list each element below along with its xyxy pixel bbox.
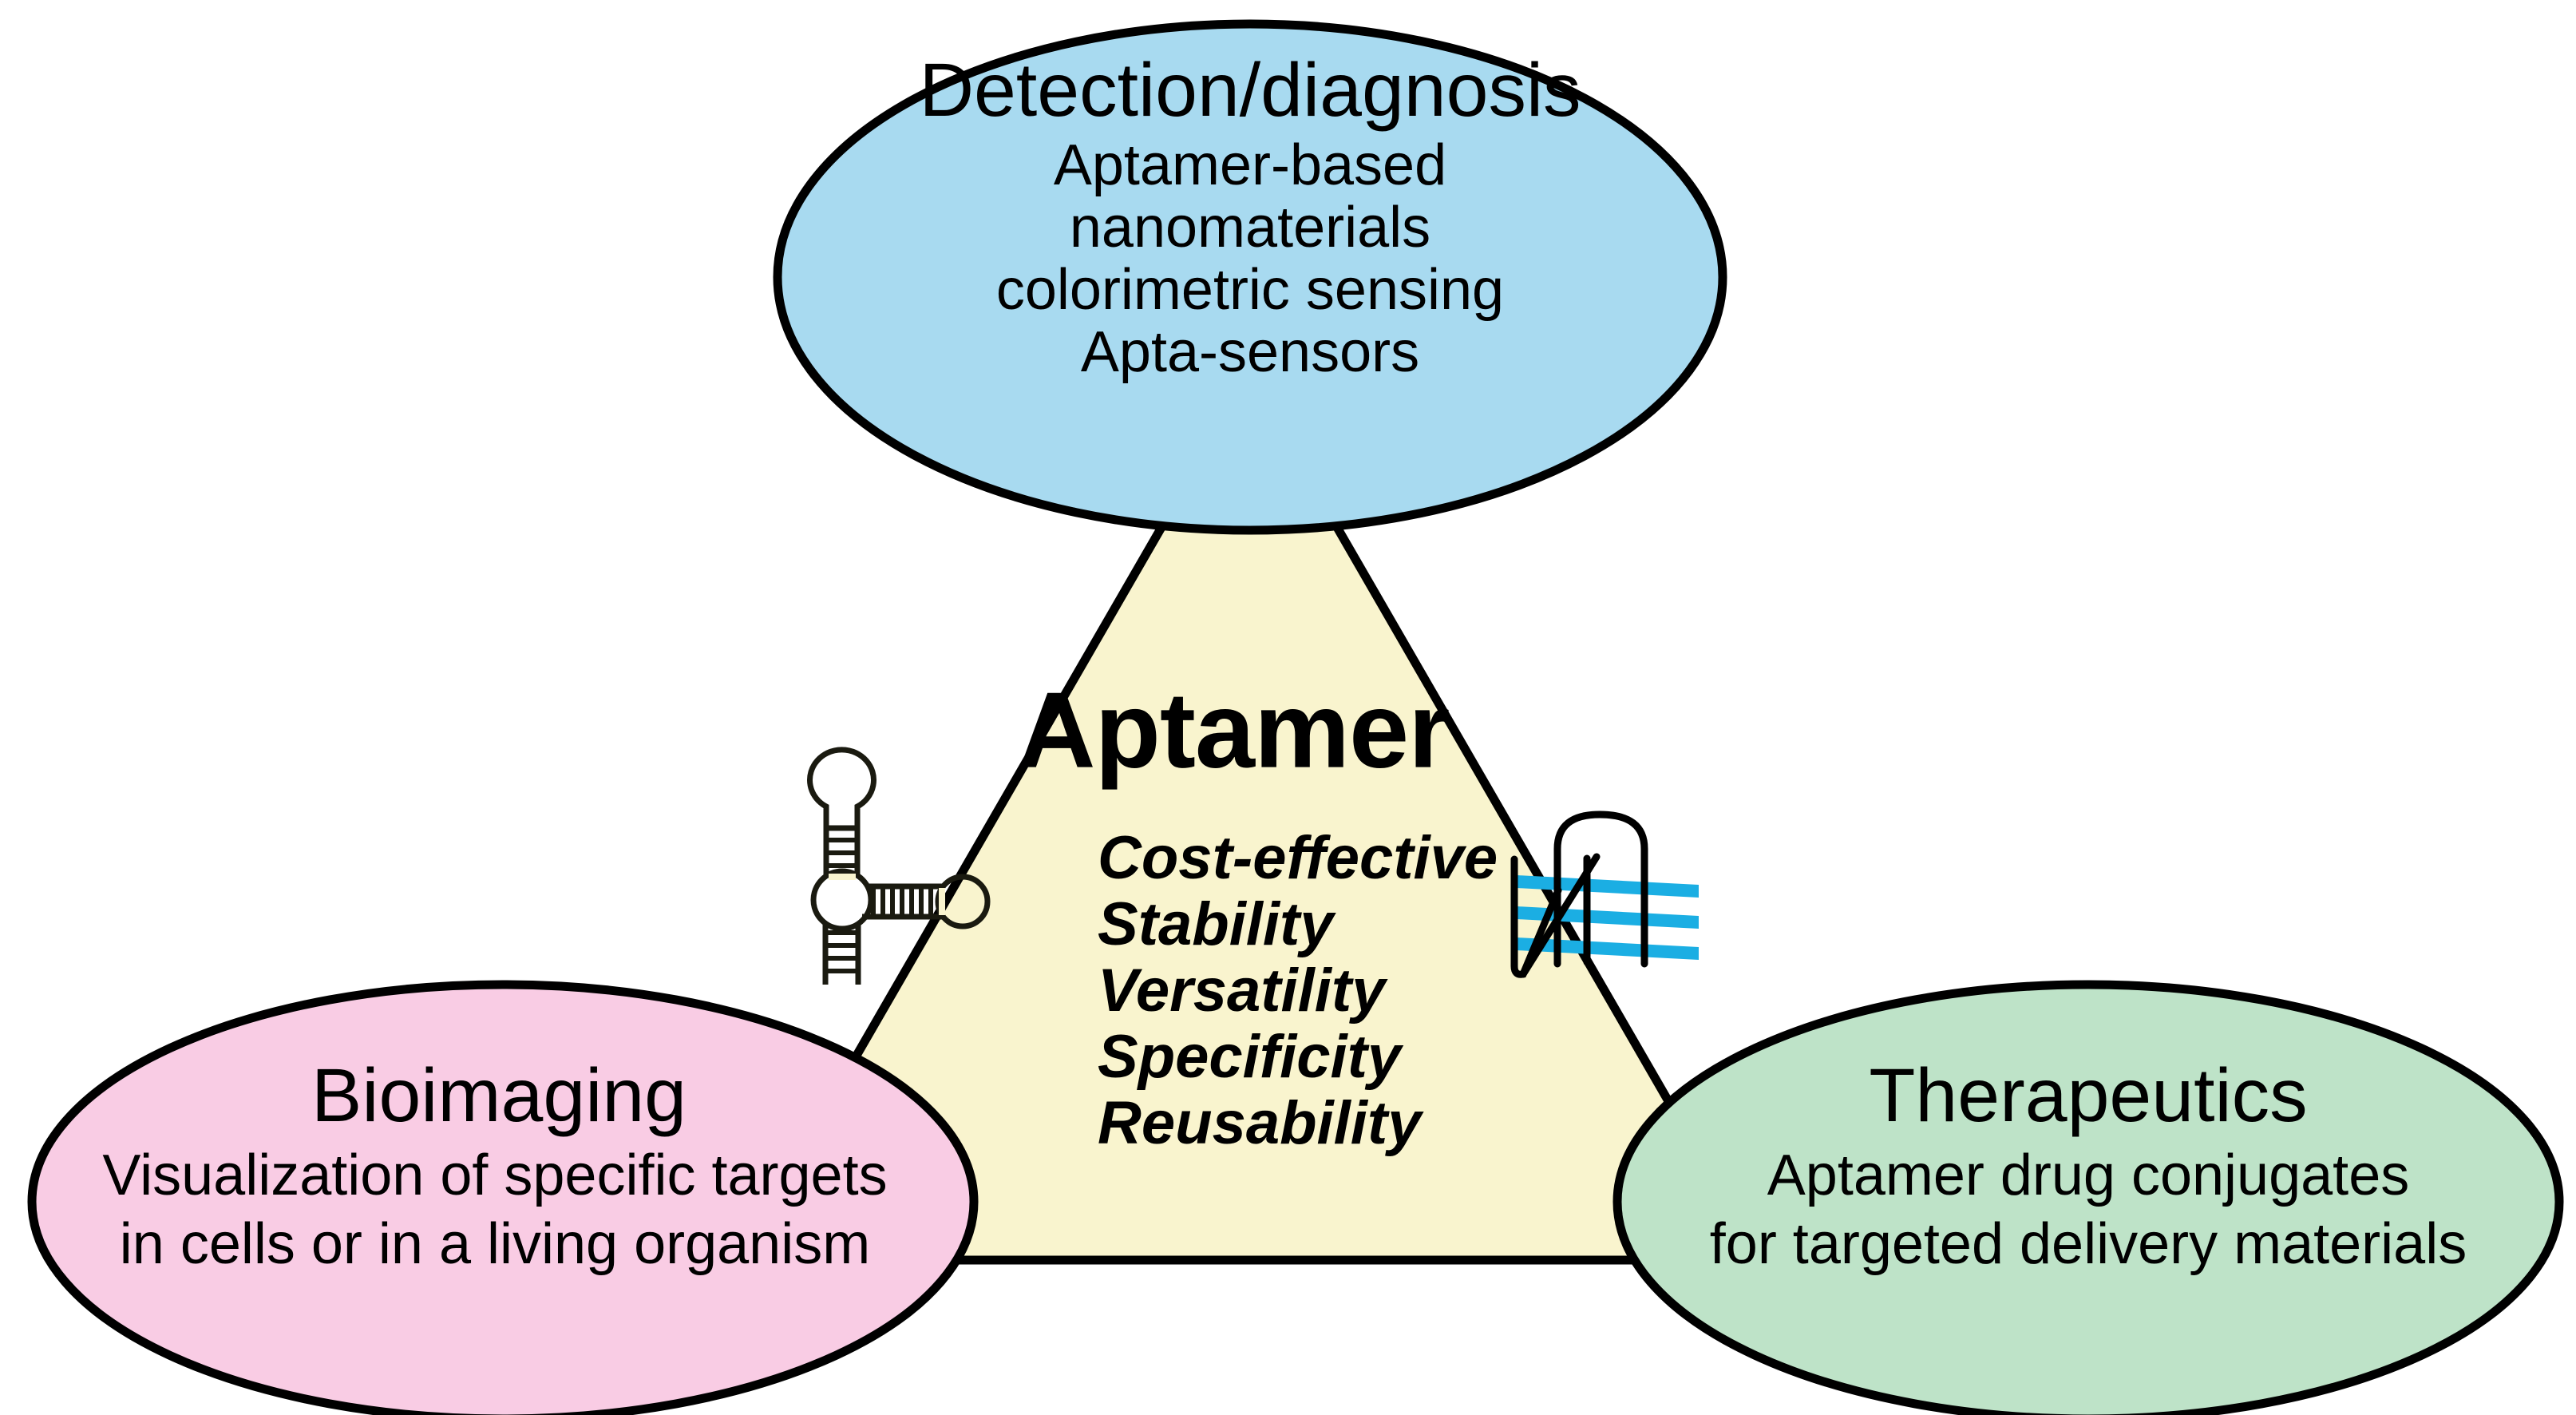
- center-property-3: Versatility: [1098, 957, 1388, 1025]
- node-detection-line-3: colorimetric sensing: [996, 258, 1504, 322]
- aptamer-concept-diagram: Detection/diagnosis Aptamer-based nanoma…: [0, 0, 2576, 1415]
- node-therapeutics-line-1: Aptamer drug conjugates: [1767, 1143, 2409, 1207]
- center-property-5: Reusability: [1098, 1089, 1424, 1157]
- center-property-4: Specificity: [1098, 1023, 1404, 1091]
- center-property-2: Stability: [1098, 890, 1336, 958]
- node-bioimaging-title: Bioimaging: [311, 1053, 687, 1138]
- node-detection-line-4: Apta-sensors: [1081, 320, 1419, 384]
- center-title: Aptamer: [1018, 670, 1450, 791]
- node-therapeutics-title: Therapeutics: [1869, 1053, 2307, 1138]
- node-bioimaging-line-1: Visualization of specific targets: [102, 1143, 887, 1207]
- center-property-1: Cost-effective: [1098, 824, 1498, 892]
- node-detection-line-1: Aptamer-based: [1054, 133, 1446, 197]
- node-detection-line-2: nanomaterials: [1070, 196, 1430, 260]
- node-detection-title: Detection/diagnosis: [919, 48, 1581, 133]
- node-bioimaging-line-2: in cells or in a living organism: [120, 1212, 870, 1276]
- node-therapeutics-line-2: for targeted delivery materials: [1710, 1212, 2467, 1276]
